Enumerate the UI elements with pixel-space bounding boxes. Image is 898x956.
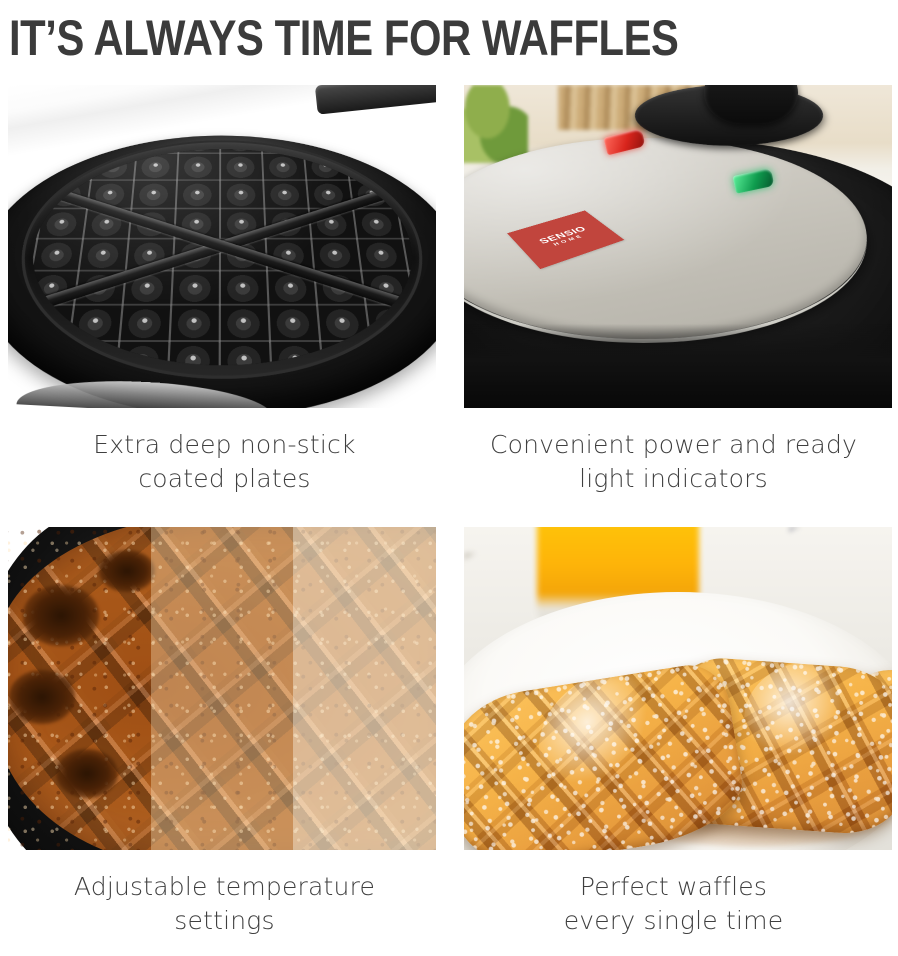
temperature-photo-image [8,527,436,850]
feature-cell-indicator-lights: SENSIO HOME Convenient power and ready l… [449,78,898,496]
page-title: IT’S ALWAYS TIME FOR WAFFLES [9,11,747,65]
cooked-waffle [8,527,436,850]
dark-browning-spot [23,585,98,645]
caption-line-2: light indicators [467,462,880,496]
cutlery-left [464,553,524,605]
photo-indicator-lights: SENSIO HOME [464,85,892,408]
caption-line-1: Adjustable temperature [18,870,431,904]
feature-cell-temperature-settings: Adjustable temperature settings [0,520,449,938]
caption-line-1: Extra deep non-stick [18,428,431,462]
caption-line-1: Perfect waffles [467,870,880,904]
white-plate [464,592,892,850]
photo-temperature-settings [8,527,436,850]
feature-caption-indicator-lights: Convenient power and ready light indicat… [449,428,898,496]
feature-caption-perfect-waffles: Perfect waffles every single time [449,870,898,938]
waffle-slice [464,659,749,850]
feature-cell-deep-plates: Extra deep non-stick coated plates [0,78,449,496]
feature-caption-temperature-settings: Adjustable temperature settings [0,870,449,938]
dark-browning-spot [99,550,155,593]
waffle-cooking-plate [12,149,432,366]
dark-browning-spot [56,749,117,799]
feature-cell-perfect-waffles: Perfect waffles every single time [449,520,898,938]
feature-caption-deep-plates: Extra deep non-stick coated plates [0,428,449,496]
waffle-pockets-grid [12,149,432,366]
base-shadow [464,324,892,408]
dark-browning-spot [9,670,75,723]
caption-line-2: every single time [467,904,880,938]
caption-line-1: Convenient power and ready [467,428,880,462]
cutlery-right [789,527,883,598]
photo-deep-plates [8,85,436,408]
served-waffles-photo-image [464,527,892,850]
waffle-plate-photo-image [8,85,436,408]
indicator-photo-image: SENSIO HOME [464,85,892,408]
feature-grid: Extra deep non-stick coated plates SENSI… [0,78,898,956]
photo-perfect-waffles [464,527,892,850]
caption-line-2: coated plates [18,462,431,496]
caption-line-2: settings [18,904,431,938]
